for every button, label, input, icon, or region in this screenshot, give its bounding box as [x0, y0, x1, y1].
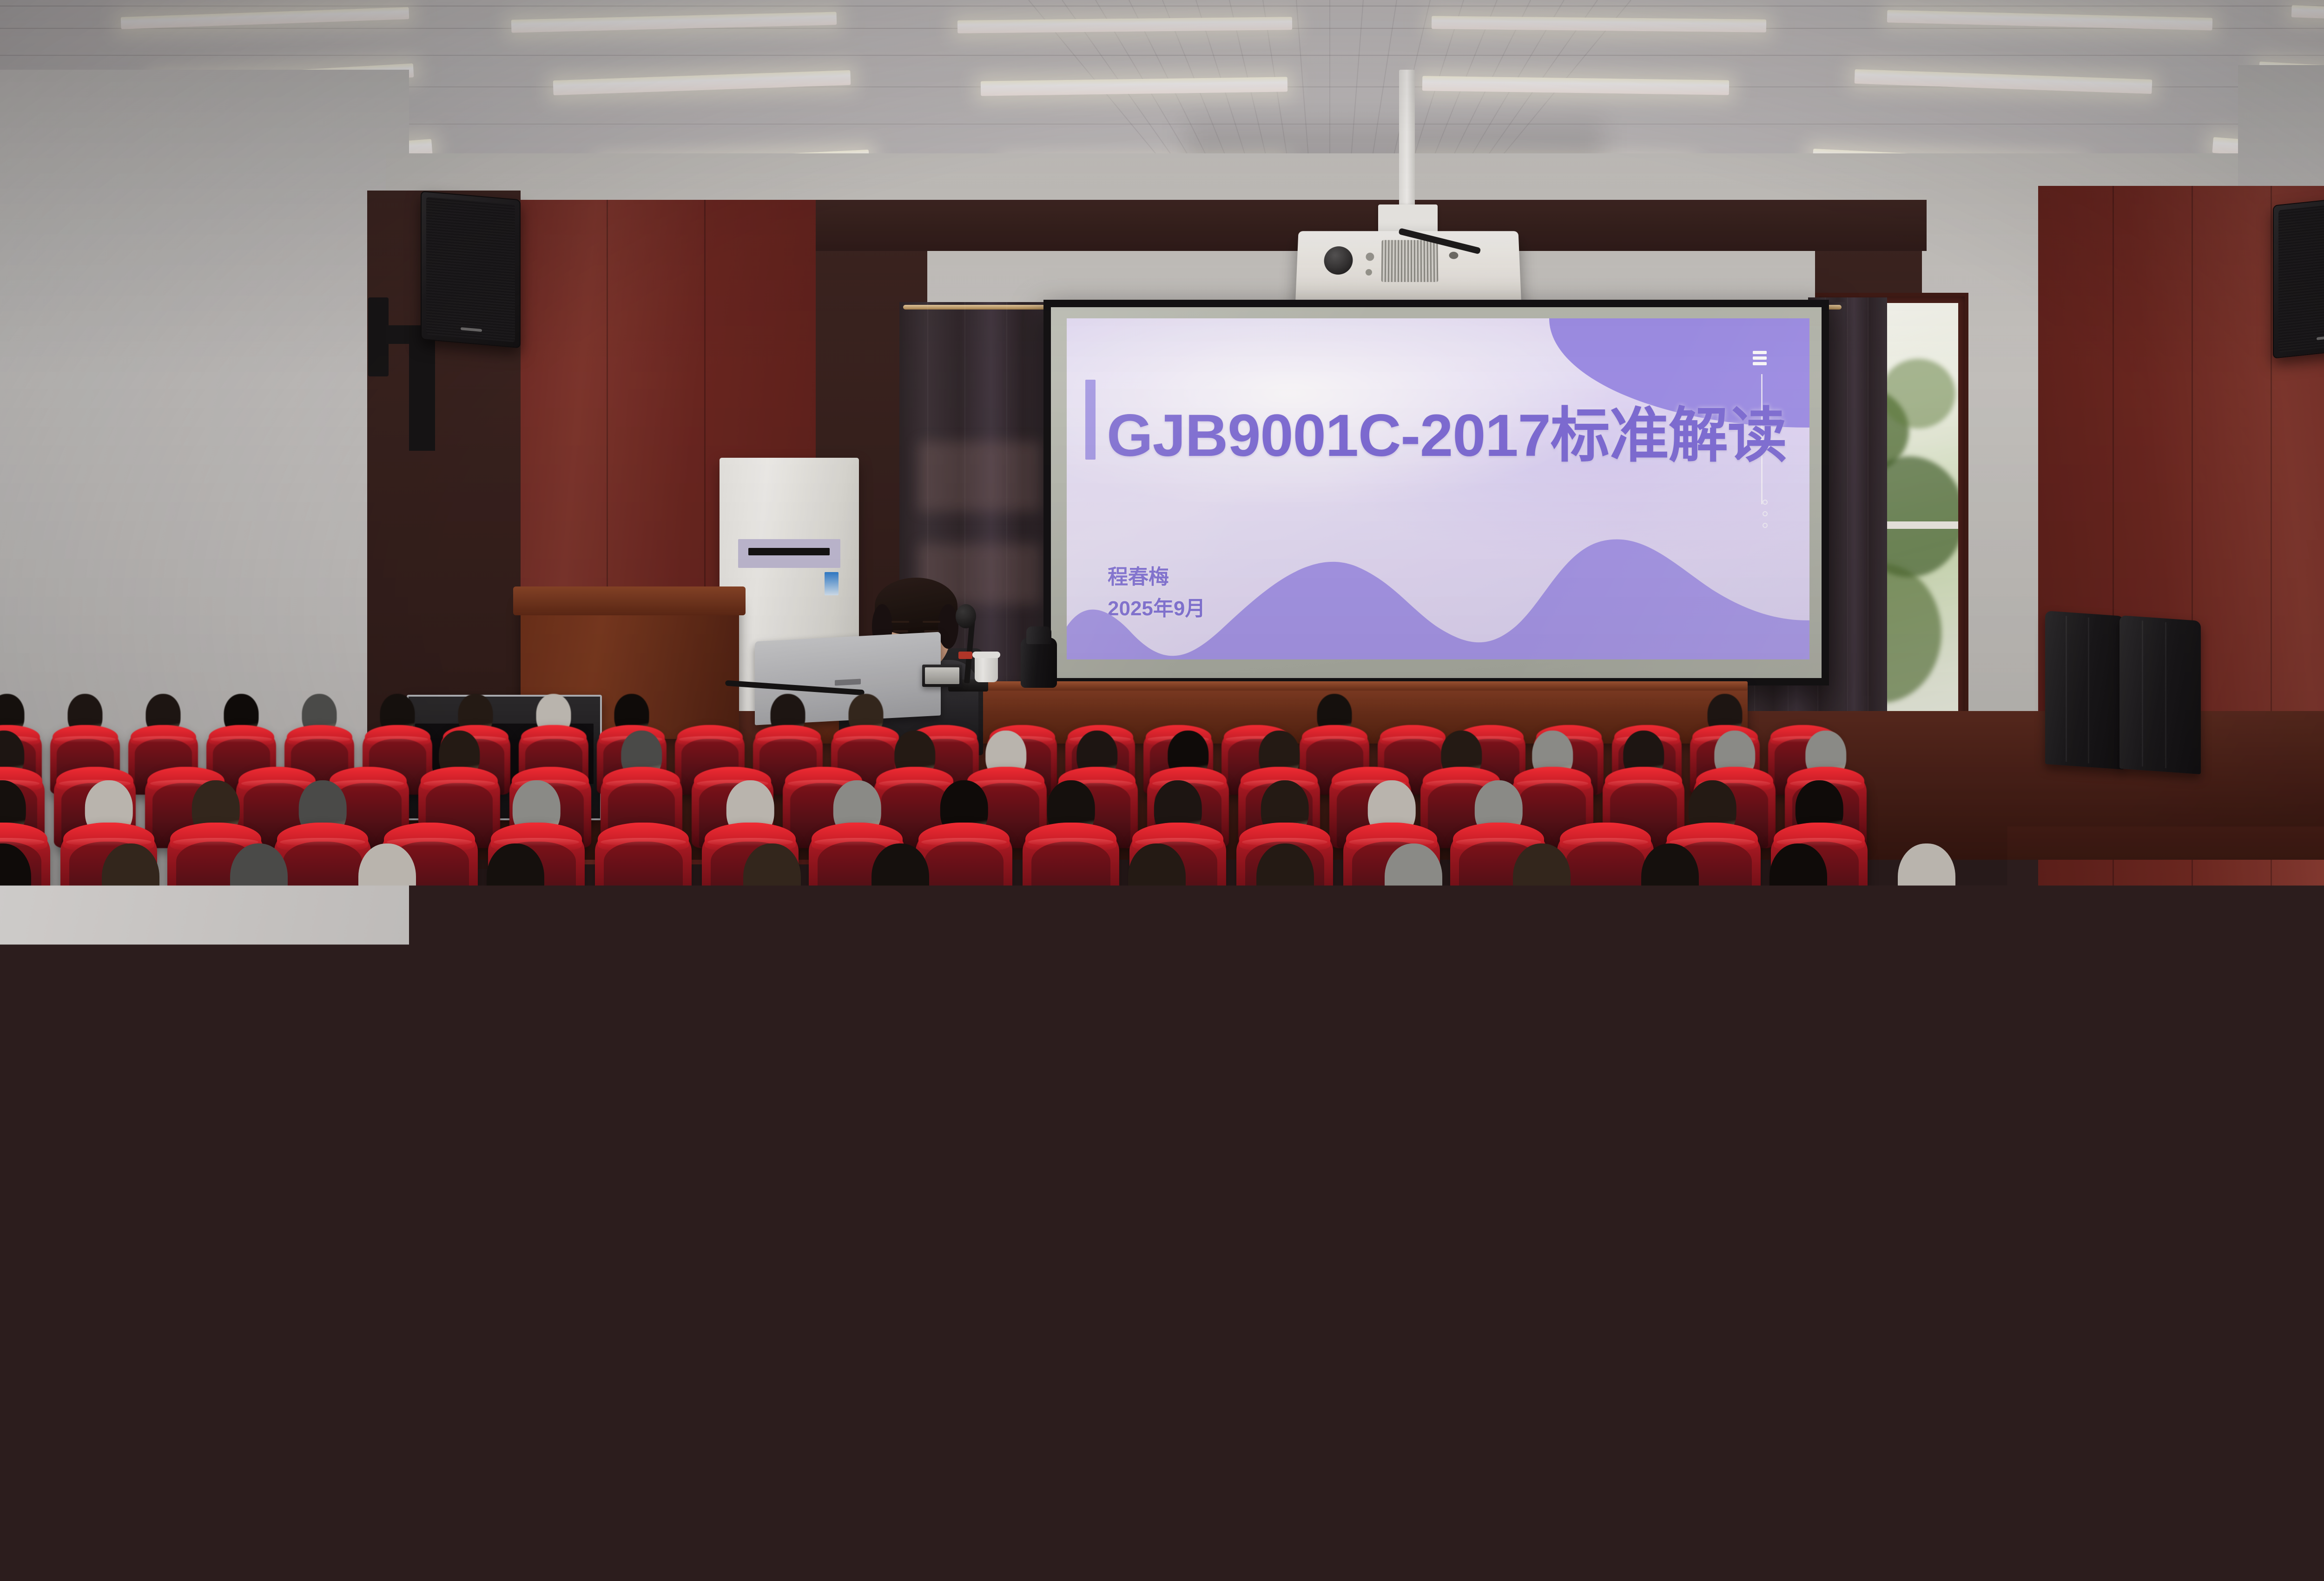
presenter-brow-right	[923, 621, 940, 623]
seat-panel-clip	[114, 1245, 135, 1265]
seat-armrest	[888, 1204, 926, 1222]
seat-rim-highlight	[1671, 1010, 1797, 1023]
audience-member-hair-bun	[848, 804, 869, 825]
seat-rim-highlight	[79, 913, 182, 923]
auditorium-scene: GJB9001C-2017标准解读 程春梅 2025年9月	[0, 0, 2324, 1581]
slide-wave-decoration	[1067, 538, 1809, 659]
audience-seat[interactable]	[249, 988, 392, 1129]
presenter-hair-side-right	[938, 604, 958, 649]
seat-panel-clip	[521, 1245, 542, 1265]
slide-title: GJB9001C-2017标准解读	[1107, 387, 1787, 473]
seat-rim-highlight	[211, 736, 272, 743]
seat-back-inner	[1470, 1322, 1664, 1508]
seat-back-inner	[262, 1016, 380, 1129]
seat-armrest	[541, 1061, 572, 1076]
audience-seat[interactable]	[0, 988, 78, 1129]
projector-pole	[1399, 70, 1415, 209]
ceiling-light	[957, 17, 1292, 33]
seat-back-inner	[1529, 1146, 1678, 1290]
ceiling-light	[553, 70, 851, 95]
seat-rim-highlight	[1106, 913, 1208, 923]
seat-rim-highlight	[330, 1140, 490, 1156]
seat-back-inner	[0, 1146, 87, 1290]
slide: GJB9001C-2017标准解读 程春梅 2025年9月	[1067, 318, 1809, 659]
audience-seat[interactable]	[673, 1276, 910, 1508]
ac-energy-label	[825, 572, 838, 595]
speaker-grille	[2278, 200, 2324, 352]
presenter-eye-left	[893, 630, 908, 632]
seat-armrest	[291, 1204, 330, 1222]
side-chair-2	[2119, 615, 2201, 774]
seat-armrest	[698, 1061, 729, 1076]
ceiling-tile-line	[0, 6, 2324, 7]
seat-armrest	[637, 1397, 687, 1420]
microphone-head	[956, 604, 976, 628]
microphone-indicator	[958, 652, 972, 659]
seat-rim-highlight	[1357, 1010, 1483, 1023]
seat-rim-highlight	[1028, 838, 1113, 846]
audience-member-hair-bun	[768, 1231, 819, 1282]
presenter-brow-left	[891, 621, 909, 623]
seat-back-inner	[1048, 1016, 1165, 1129]
audience-member-hair-bun	[1406, 960, 1438, 991]
seat-rim-highlight	[1517, 780, 1589, 787]
seat-rim-highlight	[757, 736, 819, 743]
seat-armrest	[1882, 1204, 1921, 1222]
seat-armrest	[1641, 1061, 1672, 1076]
seat-rim-highlight	[1829, 1010, 1954, 1023]
seat-rim-highlight	[1304, 736, 1365, 743]
ac-air-slot	[748, 548, 830, 555]
seat-armrest	[384, 1061, 415, 1076]
seat-armrest	[1671, 1397, 1721, 1420]
seat-armrest	[689, 1204, 727, 1222]
seat-armrest	[227, 1061, 258, 1076]
seat-rim-highlight	[423, 780, 495, 787]
seat-rim-highlight	[1563, 838, 1648, 846]
hamburger-menu-icon	[1753, 351, 1767, 365]
folding-seat-panel[interactable]	[98, 1248, 562, 1466]
seat-rim-highlight	[529, 1140, 689, 1156]
laptop-logo	[835, 679, 861, 686]
seat-back-inner	[953, 1322, 1147, 1508]
seat-rim-highlight	[289, 736, 350, 743]
paper-cup-lip	[972, 652, 1000, 658]
seat-armrest	[896, 1397, 945, 1420]
seat-rim-highlight	[606, 780, 678, 787]
seat-rim-highlight	[367, 736, 428, 743]
ceiling-light	[511, 12, 837, 33]
audience-seat[interactable]	[1707, 1276, 1944, 1508]
thermos-flask	[1021, 638, 1057, 688]
audience-member-hair-bun	[1489, 804, 1510, 825]
audience-seat[interactable]	[1035, 988, 1178, 1129]
seat-rim-highlight	[1463, 1313, 1671, 1334]
thermos-cap	[1026, 626, 1051, 644]
seat-back-inner	[1211, 1322, 1406, 1508]
ceiling-light	[1432, 16, 1766, 33]
seat-rim-highlight	[208, 913, 310, 923]
seat-rim-highlight	[1721, 1313, 1930, 1334]
seat-back-inner	[1728, 1322, 1922, 1508]
ceiling-light	[981, 77, 1287, 96]
audience-seat[interactable]	[1190, 1276, 1427, 1508]
seat-armrest	[70, 1061, 101, 1076]
seat-armrest	[1012, 1061, 1043, 1076]
seat-armrest	[1087, 1204, 1125, 1222]
audience-seat[interactable]	[931, 1276, 1169, 1508]
seat-armrest	[1798, 1061, 1829, 1076]
seat-rim-highlight	[464, 913, 567, 923]
seat-rim-highlight	[927, 1140, 1087, 1156]
seat-back-inner	[1833, 1016, 1951, 1129]
audience-seat[interactable]	[1448, 1276, 1685, 1508]
seat-rim-highlight	[1382, 736, 1443, 743]
seat-rim-highlight	[54, 736, 116, 743]
audience-member-hair-bun	[376, 872, 401, 898]
seat-rim-highlight	[132, 736, 194, 743]
audience-seat[interactable]	[1512, 1111, 1695, 1290]
audience-member-hair-bun	[1785, 1076, 1824, 1116]
seat-rim-highlight	[1747, 913, 1849, 923]
seat-rim-highlight	[1204, 1313, 1413, 1334]
seat-rim-highlight	[687, 1313, 896, 1334]
audience-seat[interactable]	[0, 1111, 103, 1290]
seat-rim-highlight	[257, 1010, 383, 1023]
nameplate-face	[925, 667, 959, 684]
seat-rim-highlight	[886, 1010, 1012, 1023]
audience-member-hair-bun	[1188, 1076, 1228, 1116]
seat-armrest	[1327, 1061, 1358, 1076]
ceiling-light	[1887, 10, 2212, 30]
seat-rim-highlight	[1619, 913, 1721, 923]
audience-member-hair-bun	[1564, 960, 1595, 991]
projector-body	[1295, 231, 1521, 309]
audience-member-hair-bun	[504, 872, 529, 898]
ceiling-light	[1422, 76, 1729, 95]
wall-speaker-left	[421, 191, 521, 349]
side-chair-1	[2045, 611, 2124, 770]
ceiling-light	[1855, 69, 2152, 94]
seat-armrest	[379, 1397, 429, 1420]
seat-rim-highlight	[1491, 913, 1593, 923]
projection-screen: GJB9001C-2017标准解读 程春梅 2025年9月	[1043, 300, 1829, 685]
screen-surface: GJB9001C-2017标准解读 程春梅 2025年9月	[1051, 307, 1822, 678]
seat-rim-highlight	[415, 1010, 541, 1023]
seat-rim-highlight	[1608, 780, 1680, 787]
seat-back-inner	[694, 1322, 889, 1508]
desk-nameplate	[922, 665, 962, 687]
seat-rim-highlight	[1200, 1010, 1326, 1023]
audience-seat[interactable]	[406, 988, 549, 1129]
seat-armrest	[1169, 1061, 1201, 1076]
seat-armrest	[1413, 1397, 1462, 1420]
seat-rim-highlight	[977, 913, 1080, 923]
seat-rim-highlight	[1980, 1313, 2188, 1334]
audience-seat[interactable]	[1965, 1276, 2202, 1508]
seat-armrest	[1154, 1397, 1204, 1420]
audience-seat[interactable]	[92, 988, 235, 1129]
ceiling-light	[121, 7, 409, 29]
seat-rim-highlight	[1325, 1140, 1485, 1156]
seat-armrest	[1484, 1061, 1515, 1076]
seat-rim-highlight	[336, 913, 438, 923]
seat-armrest	[1684, 1204, 1722, 1222]
seat-rim-highlight	[1921, 1140, 2082, 1156]
seat-rim-highlight	[1234, 913, 1336, 923]
seat-armrest	[1485, 1204, 1523, 1222]
title-accent-bar	[1085, 380, 1096, 460]
seat-rim-highlight	[280, 838, 365, 846]
seat-rim-highlight	[849, 913, 951, 923]
seat-back-inner	[0, 1322, 113, 1508]
seat-rim-highlight	[835, 736, 897, 743]
seat-rim-highlight	[100, 1010, 226, 1023]
seat-armrest	[490, 1204, 528, 1222]
seat-back-inner	[1987, 1322, 2181, 1508]
seat-rim-highlight	[1875, 913, 1978, 923]
seat-armrest	[92, 1204, 131, 1222]
seat-rim-highlight	[921, 838, 1006, 846]
seat-rim-highlight	[1043, 1010, 1169, 1023]
seat-rim-highlight	[593, 913, 695, 923]
seat-rim-highlight	[721, 913, 823, 923]
seat-armrest	[120, 1397, 170, 1420]
seat-rim-highlight	[131, 1140, 291, 1156]
seat-rim-highlight	[679, 736, 740, 743]
seat-rim-highlight	[1126, 1140, 1286, 1156]
speaker-grille	[426, 197, 515, 343]
seat-rim-highlight	[1514, 1010, 1640, 1023]
wall-speaker-right	[2273, 194, 2324, 359]
seat-armrest	[1286, 1204, 1324, 1222]
ceiling-light	[2291, 5, 2324, 27]
seat-rim-highlight	[946, 1313, 1155, 1334]
audience-member-hair-bun	[1802, 1231, 1853, 1282]
seat-rim-highlight	[523, 736, 584, 743]
audience-member-hair-bun	[760, 872, 786, 898]
seat-rim-highlight	[1362, 913, 1465, 923]
seat-rim-highlight	[729, 1010, 855, 1023]
ceiling-tile-line	[0, 55, 2324, 56]
seat-rim-highlight	[1524, 1140, 1684, 1156]
seat-armrest	[1929, 1397, 1979, 1420]
audience-member-hair-bun	[307, 960, 338, 991]
projector-bracket	[1378, 204, 1438, 233]
seat-rim-highlight	[1723, 1140, 1883, 1156]
seat-armrest	[855, 1061, 886, 1076]
dot-indicator-icon	[1763, 500, 1768, 528]
seat-rim-highlight	[601, 838, 686, 846]
seat-rim-highlight	[728, 1140, 888, 1156]
seat-rim-highlight	[572, 1010, 698, 1023]
audience-seat[interactable]	[563, 988, 706, 1129]
